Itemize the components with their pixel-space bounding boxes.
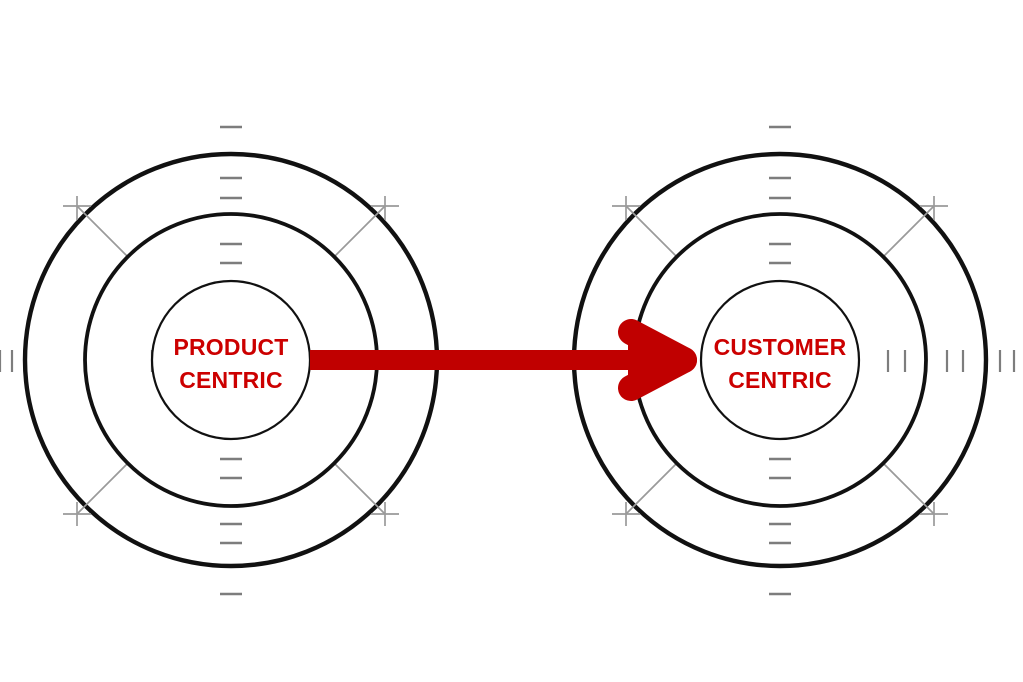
target-transition-diagram: PRODUCT CENTRIC (0, 0, 1023, 682)
diagram-canvas: PRODUCT CENTRIC (0, 0, 1023, 682)
right-target-label-line2: CENTRIC (728, 367, 832, 393)
inner-ring (152, 281, 310, 439)
right-target-label-line1: CUSTOMER (714, 334, 847, 360)
left-target-label-line1: PRODUCT (173, 334, 288, 360)
inner-ring (701, 281, 859, 439)
arrow-shaft (310, 350, 646, 370)
left-target-label-line2: CENTRIC (179, 367, 283, 393)
